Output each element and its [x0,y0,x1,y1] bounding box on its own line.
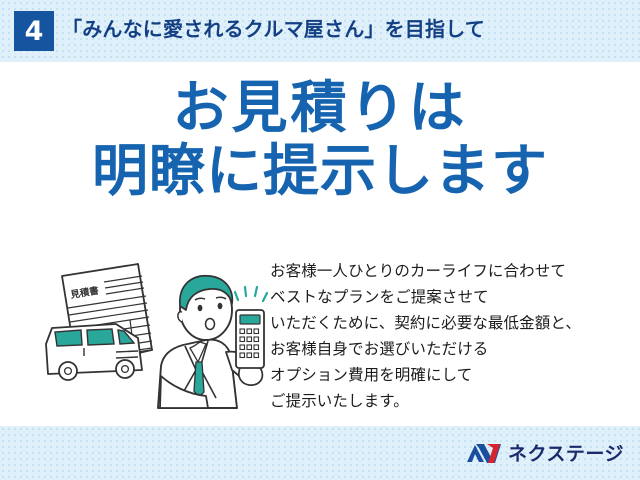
body-line: ベストなプランをご提案させて [270,284,640,310]
footer-bar: ネクステージ [0,426,640,480]
body-line: お客様自身でお選びいただける [270,336,640,362]
body-paragraph: お客様一人ひとりのカーライフに合わせて ベストなプランをご提案させて いただくた… [270,258,640,414]
van-icon [46,324,142,380]
header-bar: 4 「みんなに愛されるクルマ屋さん」を目指して [0,0,640,62]
illustration-svg: 見積書 [30,258,275,418]
body-line: オプション費用を明確にして [270,362,640,388]
headline-line-1: お見積りは [0,78,640,141]
headline: お見積りは 明瞭に提示します [0,78,640,203]
section-number-badge: 4 [14,11,54,51]
sparkle-icon [235,287,267,301]
brand-logo: ネクステージ [467,439,624,466]
header-title: 「みんなに愛されるクルマ屋さん」を目指して [62,13,485,42]
brand-name: ネクステージ [508,439,624,466]
illustration-estimate-scene: 見積書 [30,258,275,418]
body-line: ご提示いたします。 [270,388,640,414]
headline-line-2: 明瞭に提示します [0,141,640,204]
content-panel: お見積りは 明瞭に提示します お客様一人ひとりのカーライフに合わせて ベストなプ… [0,62,640,426]
calculator-icon [236,310,264,368]
nextage-n-logo-icon [467,442,501,464]
body-line: お客様一人ひとりのカーライフに合わせて [270,258,640,284]
body-line: いただくために、契約に必要な最低金額と、 [270,310,640,336]
advertisement-page: 4 「みんなに愛されるクルマ屋さん」を目指して お見積りは 明瞭に提示します お… [0,0,640,480]
